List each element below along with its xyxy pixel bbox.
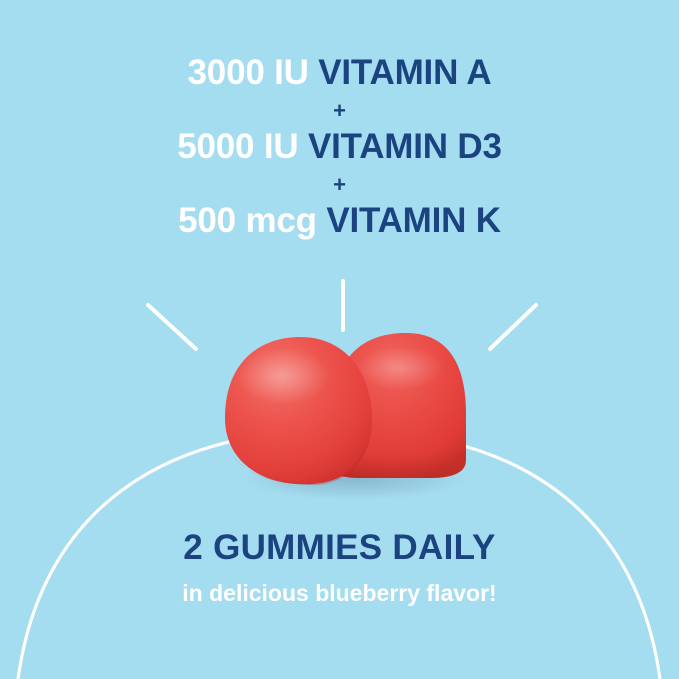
product-benefit-poster: 3000 IU VITAMIN A + 5000 IU VITAMIN D3 +… bbox=[0, 0, 679, 679]
gummy-left bbox=[225, 337, 372, 485]
dosage-instruction: 2 GUMMIES DAILY bbox=[0, 528, 679, 568]
footer-copy-block: 2 GUMMIES DAILY in delicious blueberry f… bbox=[0, 528, 679, 607]
flavor-note: in delicious blueberry flavor! bbox=[0, 580, 679, 607]
